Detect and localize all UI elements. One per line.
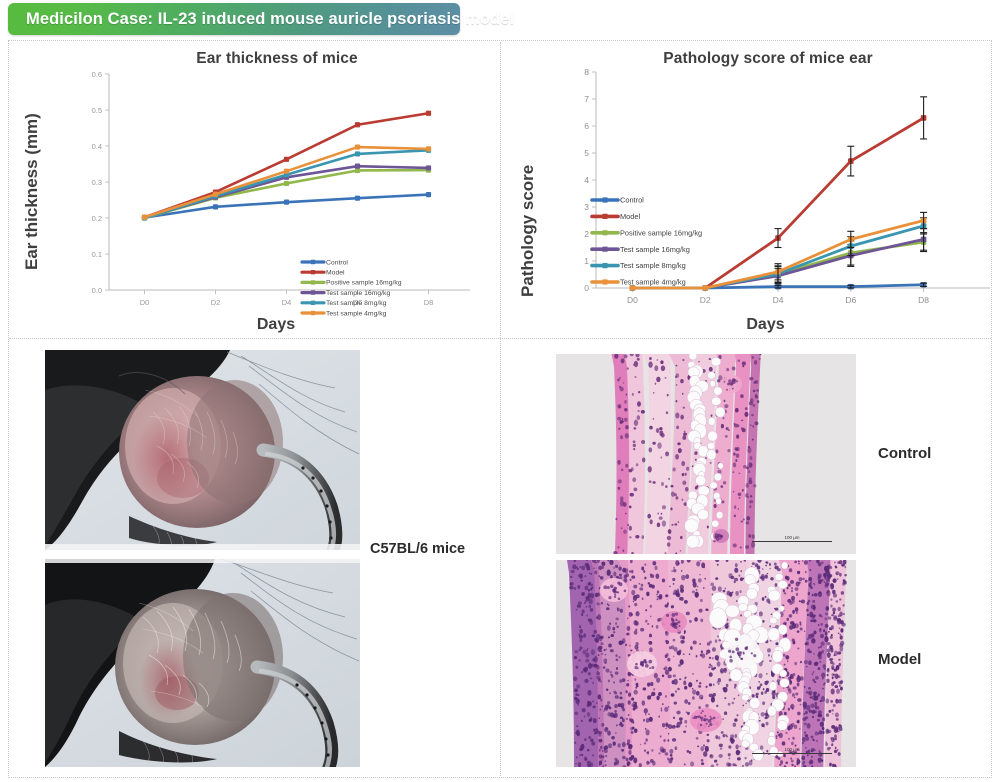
chart-ear-thickness: Ear thickness of mice Ear thickness (mm)… [14, 42, 498, 336]
svg-text:2: 2 [584, 229, 589, 239]
svg-text:D4: D4 [773, 295, 784, 305]
svg-text:D6: D6 [845, 295, 856, 305]
svg-text:5: 5 [584, 148, 589, 158]
svg-text:0.6: 0.6 [92, 70, 102, 79]
svg-text:6: 6 [584, 121, 589, 131]
svg-text:0.0: 0.0 [92, 286, 102, 295]
svg-text:1: 1 [584, 256, 589, 266]
svg-text:D0: D0 [627, 295, 638, 305]
svg-text:3: 3 [584, 202, 589, 212]
svg-text:0: 0 [584, 283, 589, 293]
svg-text:D0: D0 [140, 298, 150, 307]
svg-text:D8: D8 [918, 295, 929, 305]
x-axis-label-ear-thickness: Days [14, 316, 498, 334]
scalebar-label-model: 100 µm [784, 747, 799, 752]
svg-text:0.1: 0.1 [92, 250, 102, 259]
scalebar-line-control [752, 541, 832, 543]
scalebar-line-model [752, 753, 832, 755]
title-banner: Medicilon Case: IL-23 induced mouse auri… [8, 3, 460, 35]
scalebar-model: 100 µm [752, 742, 832, 754]
horizontal-divider [9, 338, 991, 339]
svg-text:Test sample 16mg/kg: Test sample 16mg/kg [326, 290, 390, 297]
chart-pathology-score: Pathology score of mice ear Pathology sc… [506, 42, 990, 336]
scalebar-label-control: 100 µm [784, 535, 799, 540]
svg-text:Positive sample 16mg/kg: Positive sample 16mg/kg [326, 280, 402, 287]
svg-text:Test sample 8mg/kg: Test sample 8mg/kg [326, 300, 387, 307]
plot-area-ear-thickness: 0.00.10.20.30.40.50.6D0D2D4D6D8ControlMo… [14, 42, 498, 336]
svg-text:D4: D4 [282, 298, 292, 307]
svg-text:7: 7 [584, 94, 589, 104]
svg-text:Model: Model [620, 212, 640, 221]
he-stain-control [556, 354, 856, 554]
svg-text:Test sample 8mg/kg: Test sample 8mg/kg [620, 261, 686, 270]
vertical-divider [500, 42, 501, 776]
svg-text:Control: Control [326, 259, 348, 266]
svg-text:0.2: 0.2 [92, 214, 102, 223]
svg-text:D2: D2 [211, 298, 221, 307]
svg-text:0.4: 0.4 [92, 142, 102, 151]
svg-text:0.3: 0.3 [92, 178, 102, 187]
svg-text:Test sample 4mg/kg: Test sample 4mg/kg [620, 278, 686, 287]
svg-text:0.5: 0.5 [92, 106, 102, 115]
x-axis-label-pathology-score: Days [506, 316, 990, 334]
page-title: Medicilon Case: IL-23 induced mouse auri… [8, 10, 514, 29]
he-stain-model [556, 560, 856, 767]
scalebar-control: 100 µm [752, 530, 832, 542]
svg-text:D2: D2 [700, 295, 711, 305]
mouse-ear-image-top [45, 350, 360, 550]
mouse-ear-photo-top [45, 350, 360, 550]
svg-text:4: 4 [584, 175, 589, 185]
plot-area-pathology-score: 012345678D0D2D4D6D8ControlModelPositive … [506, 42, 990, 336]
histology-image-control: 100 µm [556, 354, 856, 554]
svg-text:Positive sample 16mg/kg: Positive sample 16mg/kg [620, 228, 702, 237]
histology-label-control: Control [878, 445, 931, 462]
svg-text:Model: Model [326, 270, 345, 277]
histology-label-model: Model [878, 651, 921, 668]
mouse-photo-panel: C57BL/6 mice [14, 344, 498, 776]
mouse-ear-image-bottom [45, 559, 360, 767]
svg-text:Test sample 16mg/kg: Test sample 16mg/kg [620, 245, 690, 254]
mouse-ear-photo-bottom [45, 559, 360, 767]
svg-text:8: 8 [584, 67, 589, 77]
svg-text:D8: D8 [424, 298, 434, 307]
histology-image-model: 100 µm [556, 560, 856, 767]
c57bl6-mice-caption: C57BL/6 mice [370, 541, 465, 557]
svg-text:Control: Control [620, 196, 644, 205]
histology-panel: 100 µm 100 µm Control Model [506, 344, 990, 776]
